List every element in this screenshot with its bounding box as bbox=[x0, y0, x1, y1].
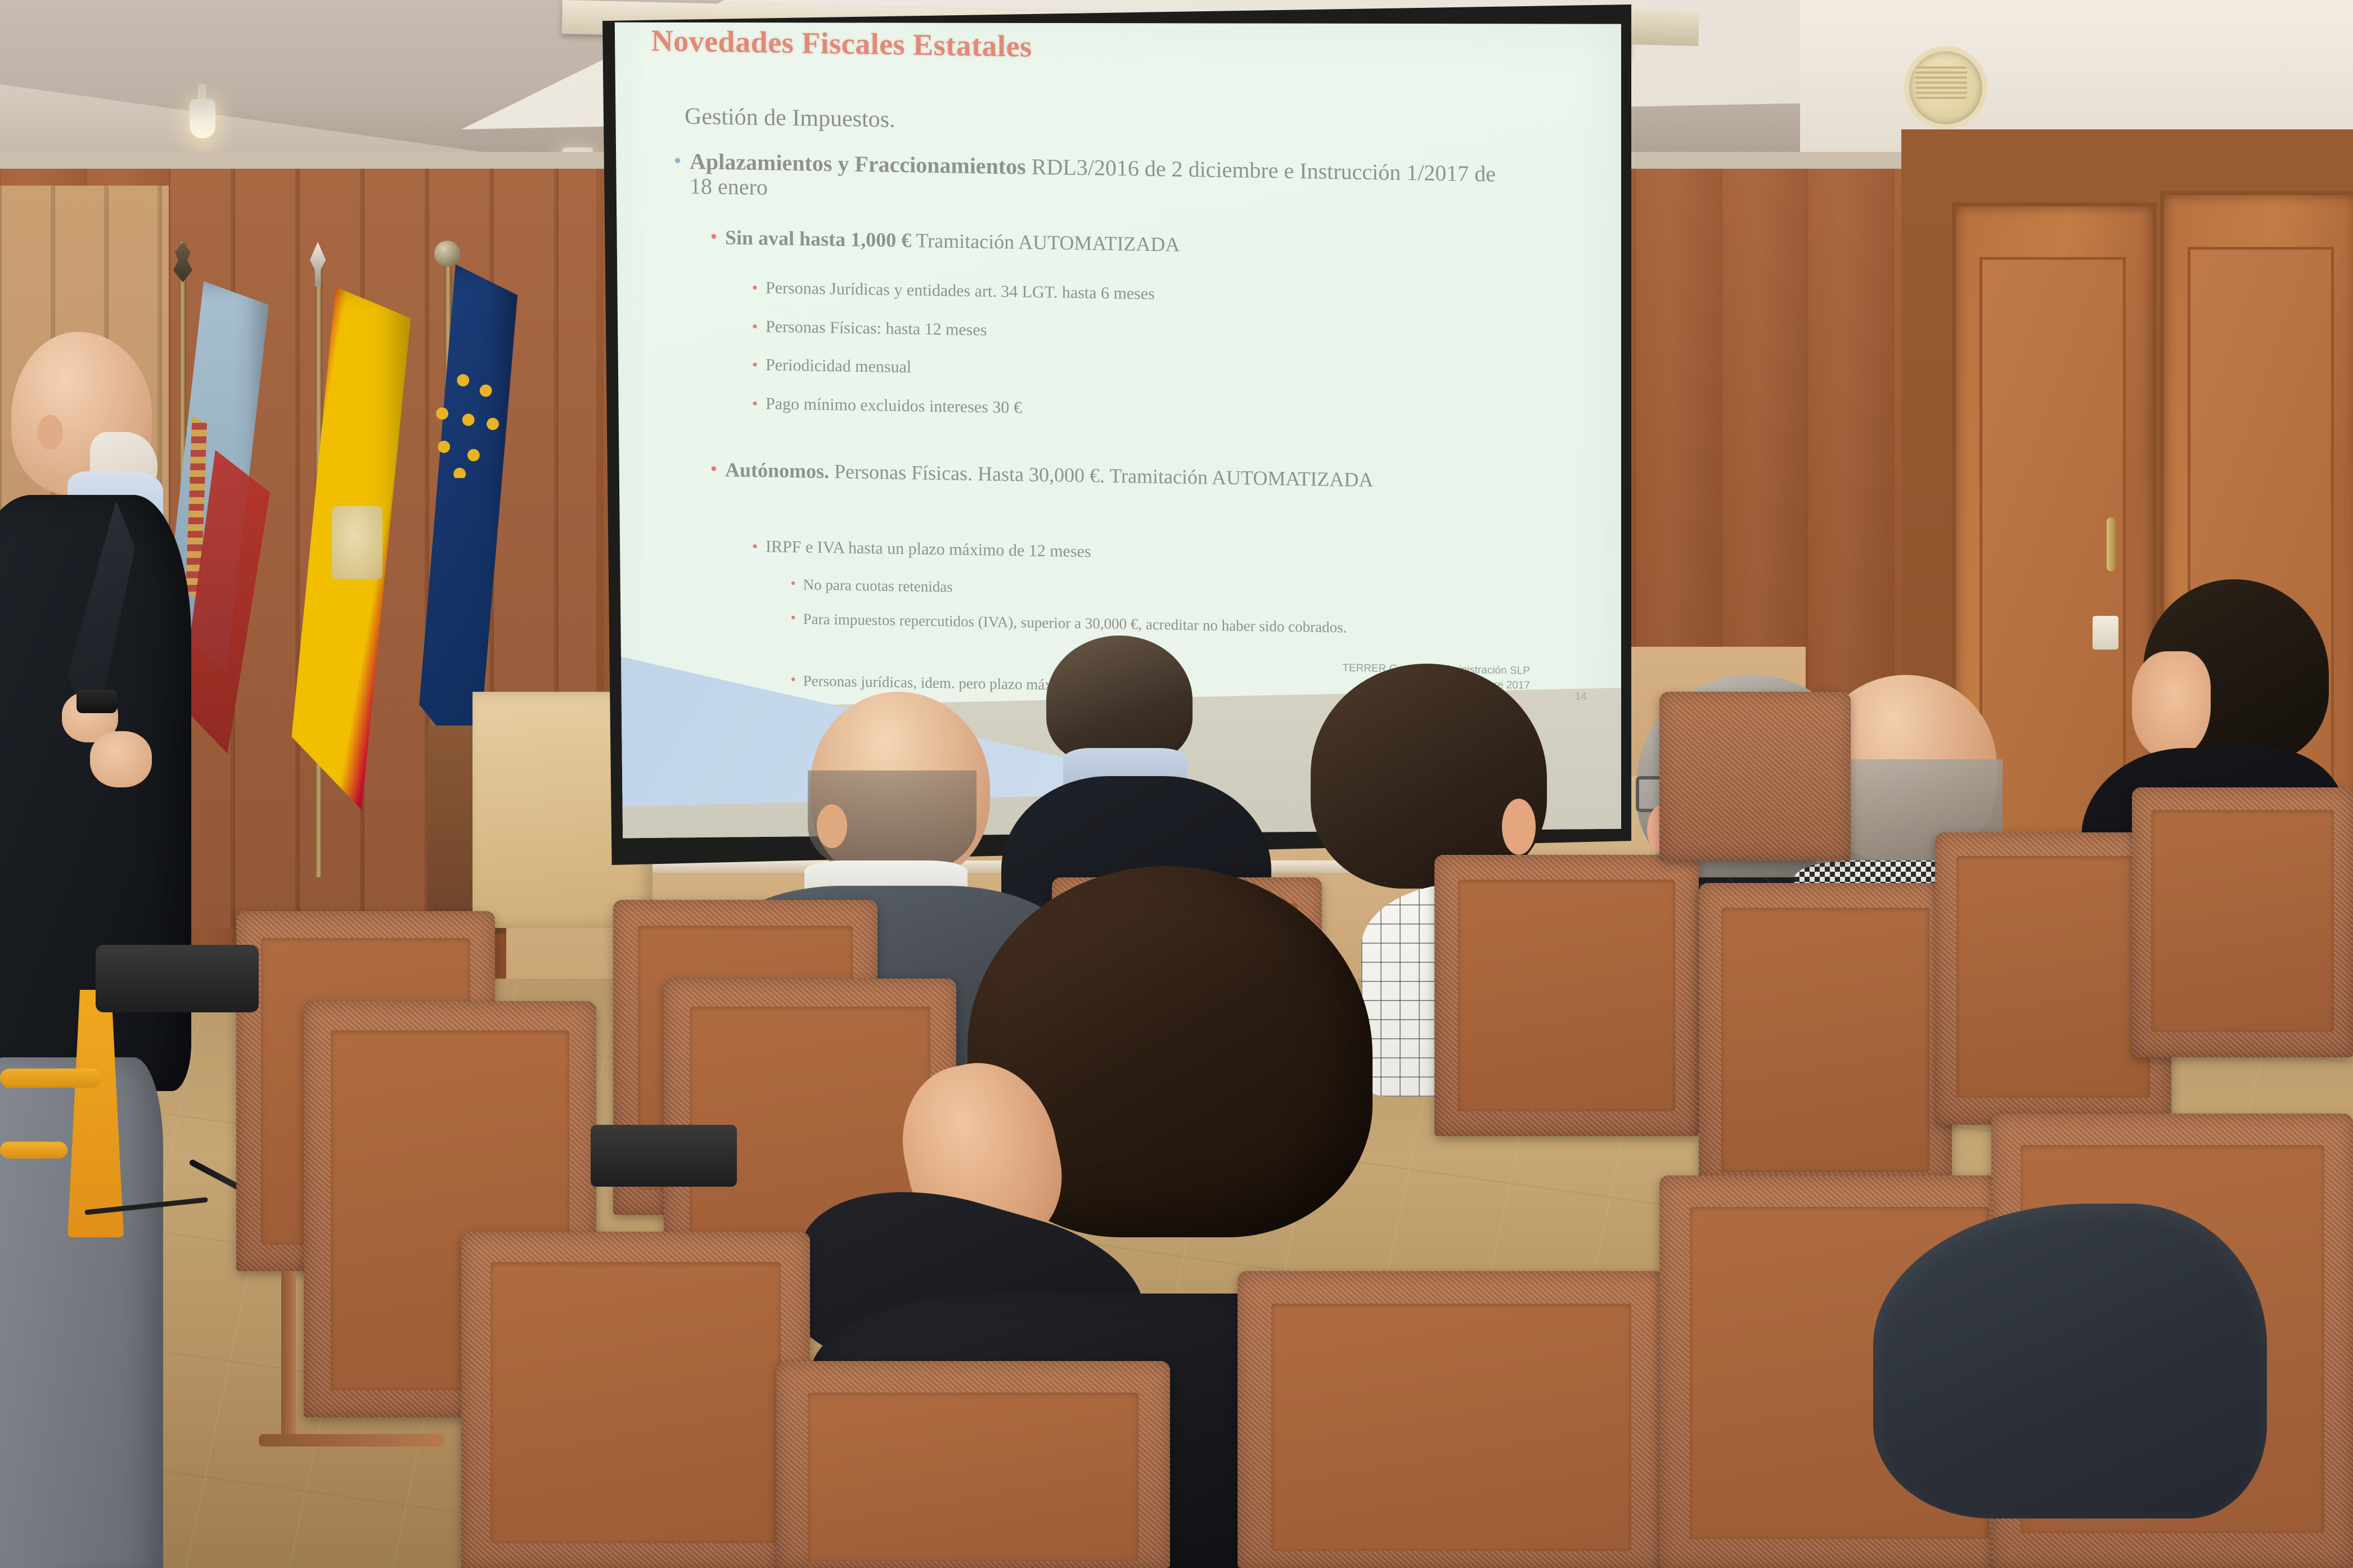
slide-bullet-0: ● Aplazamientos y Fraccionamientos RDL3/… bbox=[690, 149, 1520, 213]
orange-rail-bar-lower bbox=[0, 1142, 68, 1159]
flag-eu-stars-icon bbox=[423, 374, 510, 478]
slide-bullet-7-text: IRPF e IVA hasta un plazo máximo de 12 m… bbox=[766, 537, 1091, 561]
slide-bullet-6-rest: Personas Físicas. Hasta 30,000 €. Tramit… bbox=[829, 460, 1373, 491]
slide-bullet-6: ● Autónomos. Personas Físicas. Hasta 30,… bbox=[725, 459, 1454, 493]
door-handle-icon[interactable] bbox=[2107, 517, 2116, 571]
slide-bullet-2-text: Personas Jurídicas y entidades art. 34 L… bbox=[766, 279, 1155, 304]
presenter-hand-right bbox=[90, 731, 152, 787]
slide-bullet-3: ● Personas Físicas: hasta 12 meses bbox=[766, 317, 1535, 349]
auditorium-seat[interactable] bbox=[1659, 692, 1851, 860]
presenter-clicker-remote[interactable] bbox=[77, 690, 117, 713]
ear bbox=[1502, 799, 1536, 855]
slide-bullet-5: ● Pago mínimo excluidos intereses 30 € bbox=[766, 394, 1535, 426]
slide-bullet-4: ● Periodicidad mensual bbox=[766, 355, 1535, 387]
auditorium-seat[interactable] bbox=[1238, 1271, 1665, 1568]
orange-rail-bar bbox=[0, 1069, 101, 1088]
vent-slots bbox=[1915, 66, 1967, 99]
slide-bullet-9-text: Para impuestos repercutidos (IVA), super… bbox=[803, 610, 1347, 636]
draped-coat bbox=[1873, 1204, 2267, 1519]
slide-bullet-5-text: Pago mínimo excluidos intereses 30 € bbox=[766, 394, 1022, 417]
slide-bullet-4-text: Periodicidad mensual bbox=[766, 355, 911, 376]
slide-bullet-1-lead: Sin aval hasta 1,000 € bbox=[725, 226, 911, 251]
auditorium-seat[interactable] bbox=[2132, 787, 2353, 1057]
slide-bullet-8: ● No para cuotas retenidas bbox=[803, 576, 1512, 605]
slide-title: Novedades Fiscales Estatales bbox=[651, 23, 1032, 64]
slide-bullet-1: ● Sin aval hasta 1,000 € Tramitación AUT… bbox=[725, 226, 1535, 262]
slide-bullet-7: ● IRPF e IVA hasta un plazo máximo de 12… bbox=[766, 537, 1535, 569]
flag-spain-coat-of-arms bbox=[332, 506, 383, 579]
face-profile bbox=[2132, 651, 2211, 758]
slide-bullet-6-lead: Autónomos. bbox=[725, 459, 829, 483]
slide-bullet-2: ● Personas Jurídicas y entidades art. 34… bbox=[766, 279, 1535, 310]
presentation-room-photo: Novedades Fiscales Estatales Gestión de … bbox=[0, 0, 2353, 1568]
auditorium-seat[interactable] bbox=[461, 1232, 810, 1568]
slide-bullet-8-text: No para cuotas retenidas bbox=[803, 576, 953, 595]
auditorium-seat[interactable] bbox=[1699, 883, 1952, 1198]
ceiling-spotlight-icon bbox=[190, 99, 215, 138]
slide-bullet-1-rest: Tramitación AUTOMATIZADA bbox=[911, 229, 1180, 256]
presenter-ear bbox=[37, 415, 63, 450]
flagpole-finial-eu-icon bbox=[434, 241, 460, 267]
auditorium-seat[interactable] bbox=[776, 1361, 1170, 1568]
slide-heading: Gestión de Impuestos. bbox=[685, 103, 895, 133]
ear bbox=[817, 804, 847, 848]
slide-bullet-3-text: Personas Físicas: hasta 12 meses bbox=[766, 317, 987, 339]
